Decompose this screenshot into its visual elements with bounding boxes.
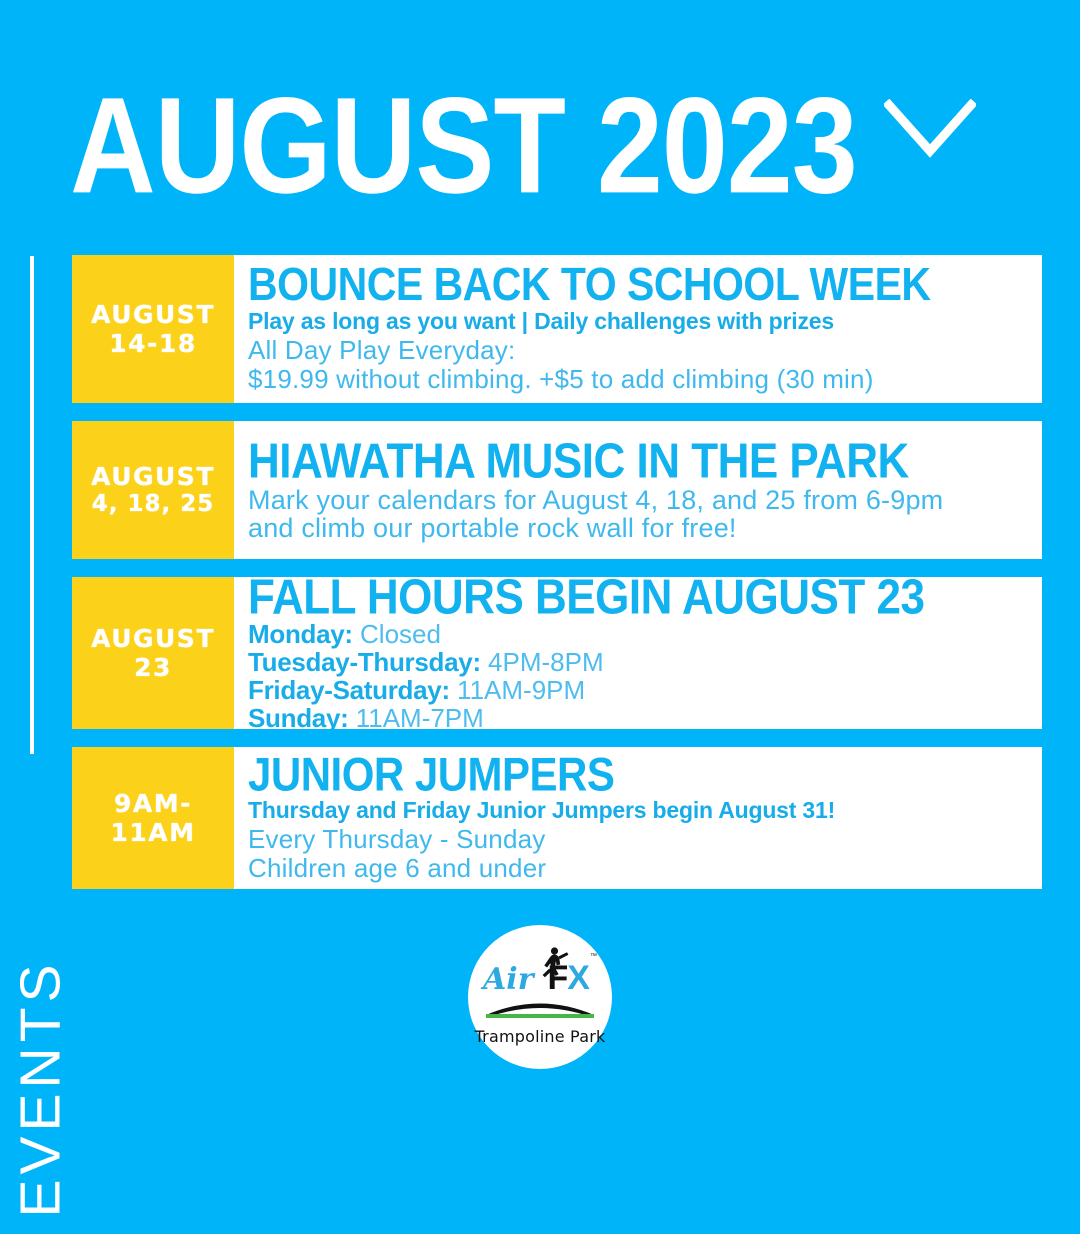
hours-day: Sunday:: [248, 703, 348, 729]
badge-line: 4, 18, 25: [92, 491, 215, 518]
jumper-silhouette-icon: [537, 944, 571, 993]
hours-day: Friday-Saturday:: [248, 675, 450, 705]
page-title: AUGUST 2023: [70, 78, 857, 215]
event-detail-line: Every Thursday - Sunday: [248, 825, 1028, 854]
event-detail-line: Children age 6 and under: [248, 854, 1028, 883]
header: AUGUST 2023: [70, 86, 1060, 206]
badge-line: 23: [134, 653, 172, 683]
badge-line: AUGUST: [91, 624, 215, 654]
event-card[interactable]: AUGUST 4, 18, 25 HIAWATHA MUSIC IN THE P…: [72, 421, 1042, 559]
hours-time: 11AM-7PM: [356, 703, 484, 729]
event-subtitle: Play as long as you want | Daily challen…: [248, 309, 1028, 335]
hours-day: Tuesday-Thursday:: [248, 647, 481, 677]
event-card[interactable]: AUGUST 23 FALL HOURS BEGIN AUGUST 23 Mon…: [72, 577, 1042, 729]
event-card-body: BOUNCE BACK TO SCHOOL WEEK Play as long …: [234, 255, 1042, 403]
badge-line: 11AM: [110, 818, 195, 848]
hours-row: Friday-Saturday: 11AM-9PM: [248, 676, 1028, 704]
logo-tagline: Trampoline Park: [475, 1027, 606, 1046]
chevron-down-icon: [884, 99, 976, 166]
trademark-symbol: ™: [590, 953, 597, 960]
event-title: BOUNCE BACK TO SCHOOL WEEK: [248, 261, 1028, 309]
event-card-body: FALL HOURS BEGIN AUGUST 23 Monday: Close…: [234, 577, 1042, 729]
event-detail-line: $19.99 without climbing. +$5 to add clim…: [248, 365, 1028, 394]
hours-time: 11AM-9PM: [457, 675, 585, 705]
event-date-badge: AUGUST 23: [72, 577, 234, 729]
event-card-body: JUNIOR JUMPERS Thursday and Friday Junio…: [234, 747, 1042, 889]
badge-line: 9AM-: [114, 789, 192, 819]
hours-row: Sunday: 11AM-7PM: [248, 704, 1028, 729]
event-subtitle: Thursday and Friday Junior Jumpers begin…: [248, 798, 1028, 824]
event-date-badge: 9AM- 11AM: [72, 747, 234, 889]
badge-line: 14-18: [109, 329, 196, 359]
event-card-body: HIAWATHA MUSIC IN THE PARK Mark your cal…: [234, 421, 1042, 559]
badge-line: AUGUST: [91, 462, 215, 492]
event-date-badge: AUGUST 4, 18, 25: [72, 421, 234, 559]
rail-divider-line: [30, 256, 34, 754]
event-detail-line: All Day Play Everyday:: [248, 336, 1028, 365]
logo-wordmark: Air FX ™: [483, 953, 597, 995]
hours-time: 4PM-8PM: [488, 647, 604, 677]
event-title: JUNIOR JUMPERS: [248, 750, 1028, 799]
logo-air-text: Air: [483, 965, 533, 995]
event-title: HIAWATHA MUSIC IN THE PARK: [248, 436, 1028, 487]
event-detail-line: Mark your calendars for August 4, 18, an…: [248, 486, 1028, 514]
hours-row: Tuesday-Thursday: 4PM-8PM: [248, 648, 1028, 676]
trampoline-arc-icon: [484, 997, 596, 1024]
airfx-logo: Air FX ™ Trampoline Park: [468, 925, 612, 1069]
event-title: FALL HOURS BEGIN AUGUST 23: [248, 577, 1028, 623]
badge-line: AUGUST: [91, 300, 215, 330]
events-vertical-label: EVENTS: [13, 944, 70, 1234]
event-card[interactable]: AUGUST 14-18 BOUNCE BACK TO SCHOOL WEEK …: [72, 255, 1042, 403]
events-rail: EVENTS: [0, 240, 72, 1040]
event-date-badge: AUGUST 14-18: [72, 255, 234, 403]
event-detail-line: and climb our portable rock wall for fre…: [248, 514, 1028, 542]
event-card[interactable]: 9AM- 11AM JUNIOR JUMPERS Thursday and Fr…: [72, 747, 1042, 889]
events-list: AUGUST 14-18 BOUNCE BACK TO SCHOOL WEEK …: [72, 255, 1042, 907]
